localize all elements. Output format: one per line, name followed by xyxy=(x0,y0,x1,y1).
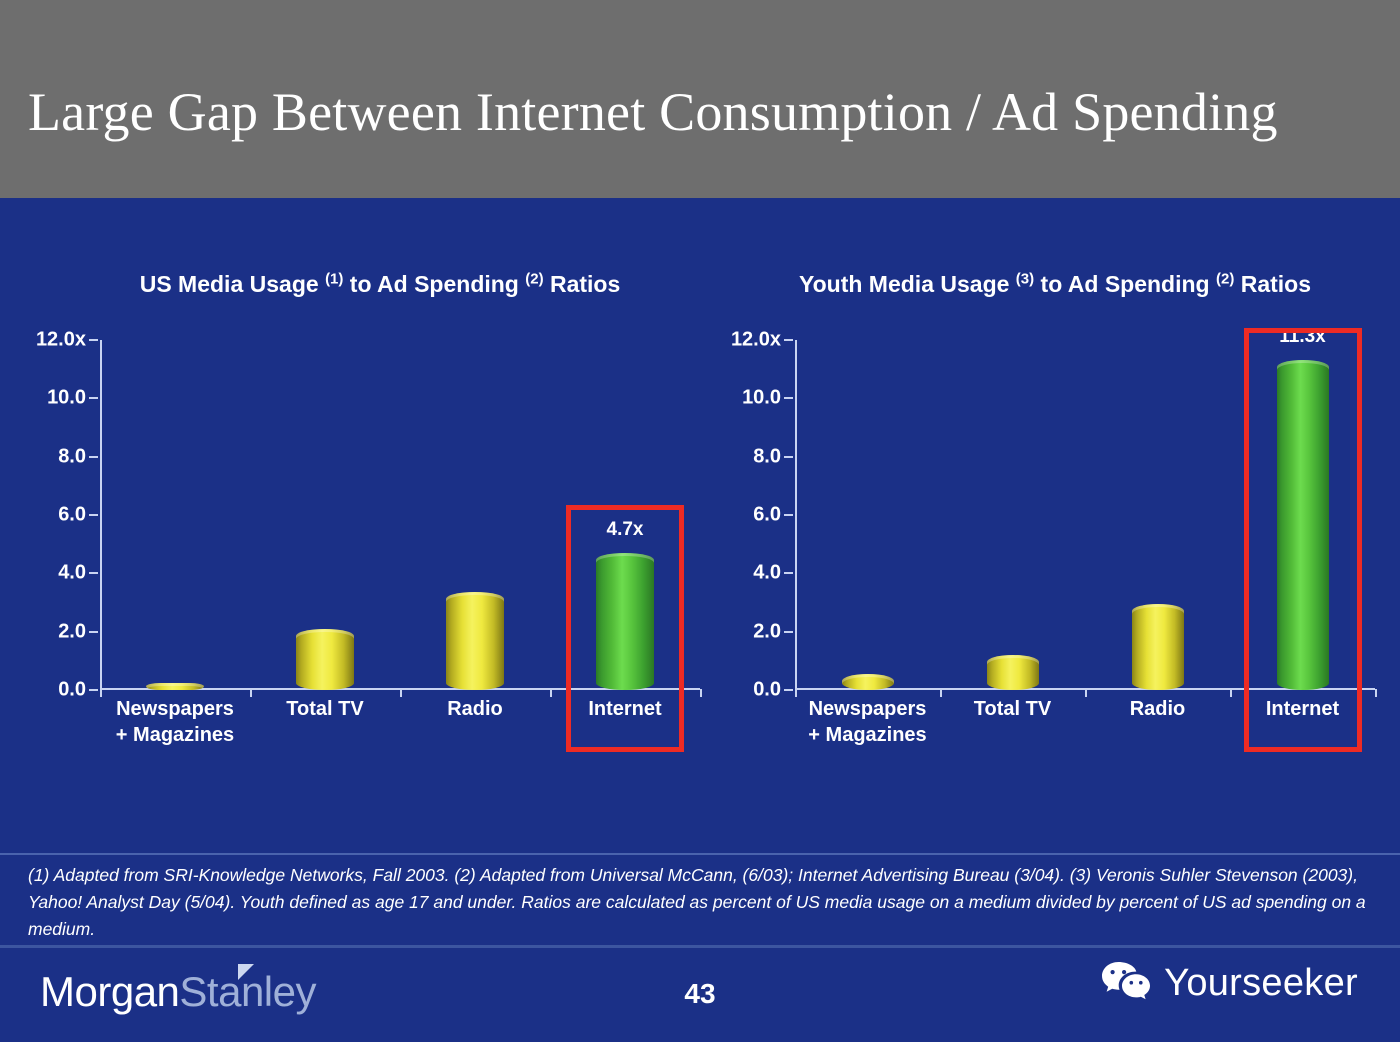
y-tick-mark xyxy=(784,689,793,691)
chart-title-left-part2: to Ad Spending xyxy=(343,271,525,297)
y-tick-label: 6.0 xyxy=(58,504,86,527)
bar-total-tv xyxy=(987,655,1039,690)
chart-title-right-part2: to Ad Spending xyxy=(1034,271,1216,297)
bar-slot: 4.7x xyxy=(550,340,700,690)
plot-wrap-left: 0.02.04.06.08.010.012.0x 4.7x Newspapers… xyxy=(20,340,720,760)
y-tick-mark xyxy=(89,631,98,633)
footnote-text: (1) Adapted from SRI-Knowledge Networks,… xyxy=(28,862,1373,943)
category-label: Total TV xyxy=(940,696,1085,748)
footnote-divider-bottom xyxy=(0,945,1400,948)
category-label: Internet xyxy=(1230,696,1375,748)
bar-newspapers-magazines xyxy=(146,683,204,690)
bars-right: 11.3x xyxy=(795,340,1375,690)
y-tick-mark xyxy=(784,397,793,399)
plot-area-right: 11.3x xyxy=(795,340,1375,690)
y-tick-label: 10.0 xyxy=(742,387,781,410)
bar-radio xyxy=(446,592,504,690)
category-label: Internet xyxy=(550,696,700,748)
category-label-line1: Internet xyxy=(588,698,661,720)
category-label-line1: Total TV xyxy=(974,698,1051,720)
y-tick-label: 0.0 xyxy=(58,679,86,702)
chart-title-right-sup1: (3) xyxy=(1016,270,1034,287)
y-tick-label: 0.0 xyxy=(753,679,781,702)
chart-title-left-sup1: (1) xyxy=(325,270,343,287)
y-axis-right: 0.02.04.06.08.010.012.0x xyxy=(715,340,793,690)
footnote-divider-top xyxy=(0,853,1400,855)
slide-header: Large Gap Between Internet Consumption /… xyxy=(0,0,1400,198)
bar-newspapers-magazines xyxy=(842,674,894,690)
x-tick-mark xyxy=(1375,689,1377,697)
chart-title-left-part3: Ratios xyxy=(544,271,621,297)
y-tick-mark xyxy=(89,514,98,516)
chart-title-left: US Media Usage (1) to Ad Spending (2) Ra… xyxy=(20,268,720,340)
y-tick-label: 12.0x xyxy=(731,329,781,352)
category-labels-right: Newspapers+ MagazinesTotal TVRadioIntern… xyxy=(795,696,1375,748)
chart-title-right-part1: Youth Media Usage xyxy=(799,271,1016,297)
bar-slot xyxy=(1085,340,1230,690)
category-label-line1: Internet xyxy=(1266,698,1339,720)
category-labels-left: Newspapers+ MagazinesTotal TVRadioIntern… xyxy=(100,696,700,748)
y-tick-mark xyxy=(89,689,98,691)
category-label-line2: + Magazines xyxy=(795,722,940,748)
y-tick-label: 2.0 xyxy=(58,620,86,643)
y-tick-mark xyxy=(784,514,793,516)
y-tick-label: 4.0 xyxy=(753,562,781,585)
y-tick-label: 4.0 xyxy=(58,562,86,585)
y-tick-label: 6.0 xyxy=(753,504,781,527)
bar-slot xyxy=(100,340,250,690)
bar-value-label: 4.7x xyxy=(607,519,644,541)
category-label-line1: Total TV xyxy=(286,698,363,720)
bar-slot xyxy=(400,340,550,690)
plot-wrap-right: 0.02.04.06.08.010.012.0x 11.3x Newspaper… xyxy=(715,340,1395,760)
chart-us-media-usage: US Media Usage (1) to Ad Spending (2) Ra… xyxy=(20,268,720,760)
category-label: Radio xyxy=(1085,696,1230,748)
chart-title-right-sup2: (2) xyxy=(1216,270,1234,287)
y-tick-mark xyxy=(784,572,793,574)
category-label: Newspapers+ Magazines xyxy=(100,696,250,748)
bar-internet xyxy=(1277,360,1329,690)
x-tick-mark xyxy=(700,689,702,697)
category-label-line1: Radio xyxy=(447,698,503,720)
y-tick-label: 12.0x xyxy=(36,329,86,352)
slide-footer: MorganStanley 43 Yourseeker xyxy=(0,950,1400,1042)
category-label: Total TV xyxy=(250,696,400,748)
y-tick-label: 8.0 xyxy=(58,445,86,468)
y-tick-mark xyxy=(89,572,98,574)
category-label-line1: Newspapers xyxy=(809,698,927,720)
page-title: Large Gap Between Internet Consumption /… xyxy=(0,55,1278,143)
bar-total-tv xyxy=(296,629,354,690)
y-tick-mark xyxy=(89,456,98,458)
plot-area-left: 4.7x xyxy=(100,340,700,690)
y-tick-mark xyxy=(89,397,98,399)
bar-value-label: 11.3x xyxy=(1279,326,1326,348)
y-tick-mark xyxy=(784,631,793,633)
y-tick-label: 2.0 xyxy=(753,620,781,643)
y-axis-left: 0.02.04.06.08.010.012.0x xyxy=(20,340,98,690)
bar-slot xyxy=(795,340,940,690)
bar-slot xyxy=(250,340,400,690)
yourseeker-label: Yourseeker xyxy=(1164,962,1358,1005)
chart-youth-media-usage: Youth Media Usage (3) to Ad Spending (2)… xyxy=(715,268,1395,760)
y-tick-label: 8.0 xyxy=(753,445,781,468)
bar-slot: 11.3x xyxy=(1230,340,1375,690)
bar-internet xyxy=(596,553,654,690)
category-label-line1: Radio xyxy=(1130,698,1186,720)
bar-radio xyxy=(1132,604,1184,690)
yourseeker-brand: Yourseeker xyxy=(1100,960,1358,1007)
slide-body: US Media Usage (1) to Ad Spending (2) Ra… xyxy=(0,198,1400,1042)
y-tick-mark xyxy=(784,456,793,458)
y-tick-label: 10.0 xyxy=(47,387,86,410)
wechat-icon xyxy=(1100,960,1152,1007)
y-tick-mark xyxy=(784,339,793,341)
bar-slot xyxy=(940,340,1085,690)
y-tick-mark xyxy=(89,339,98,341)
chart-title-left-sup2: (2) xyxy=(525,270,543,287)
category-label-line2: + Magazines xyxy=(100,722,250,748)
bars-left: 4.7x xyxy=(100,340,700,690)
chart-title-left-part1: US Media Usage xyxy=(140,271,325,297)
chart-title-right-part3: Ratios xyxy=(1234,271,1311,297)
category-label: Radio xyxy=(400,696,550,748)
category-label: Newspapers+ Magazines xyxy=(795,696,940,748)
category-label-line1: Newspapers xyxy=(116,698,234,720)
